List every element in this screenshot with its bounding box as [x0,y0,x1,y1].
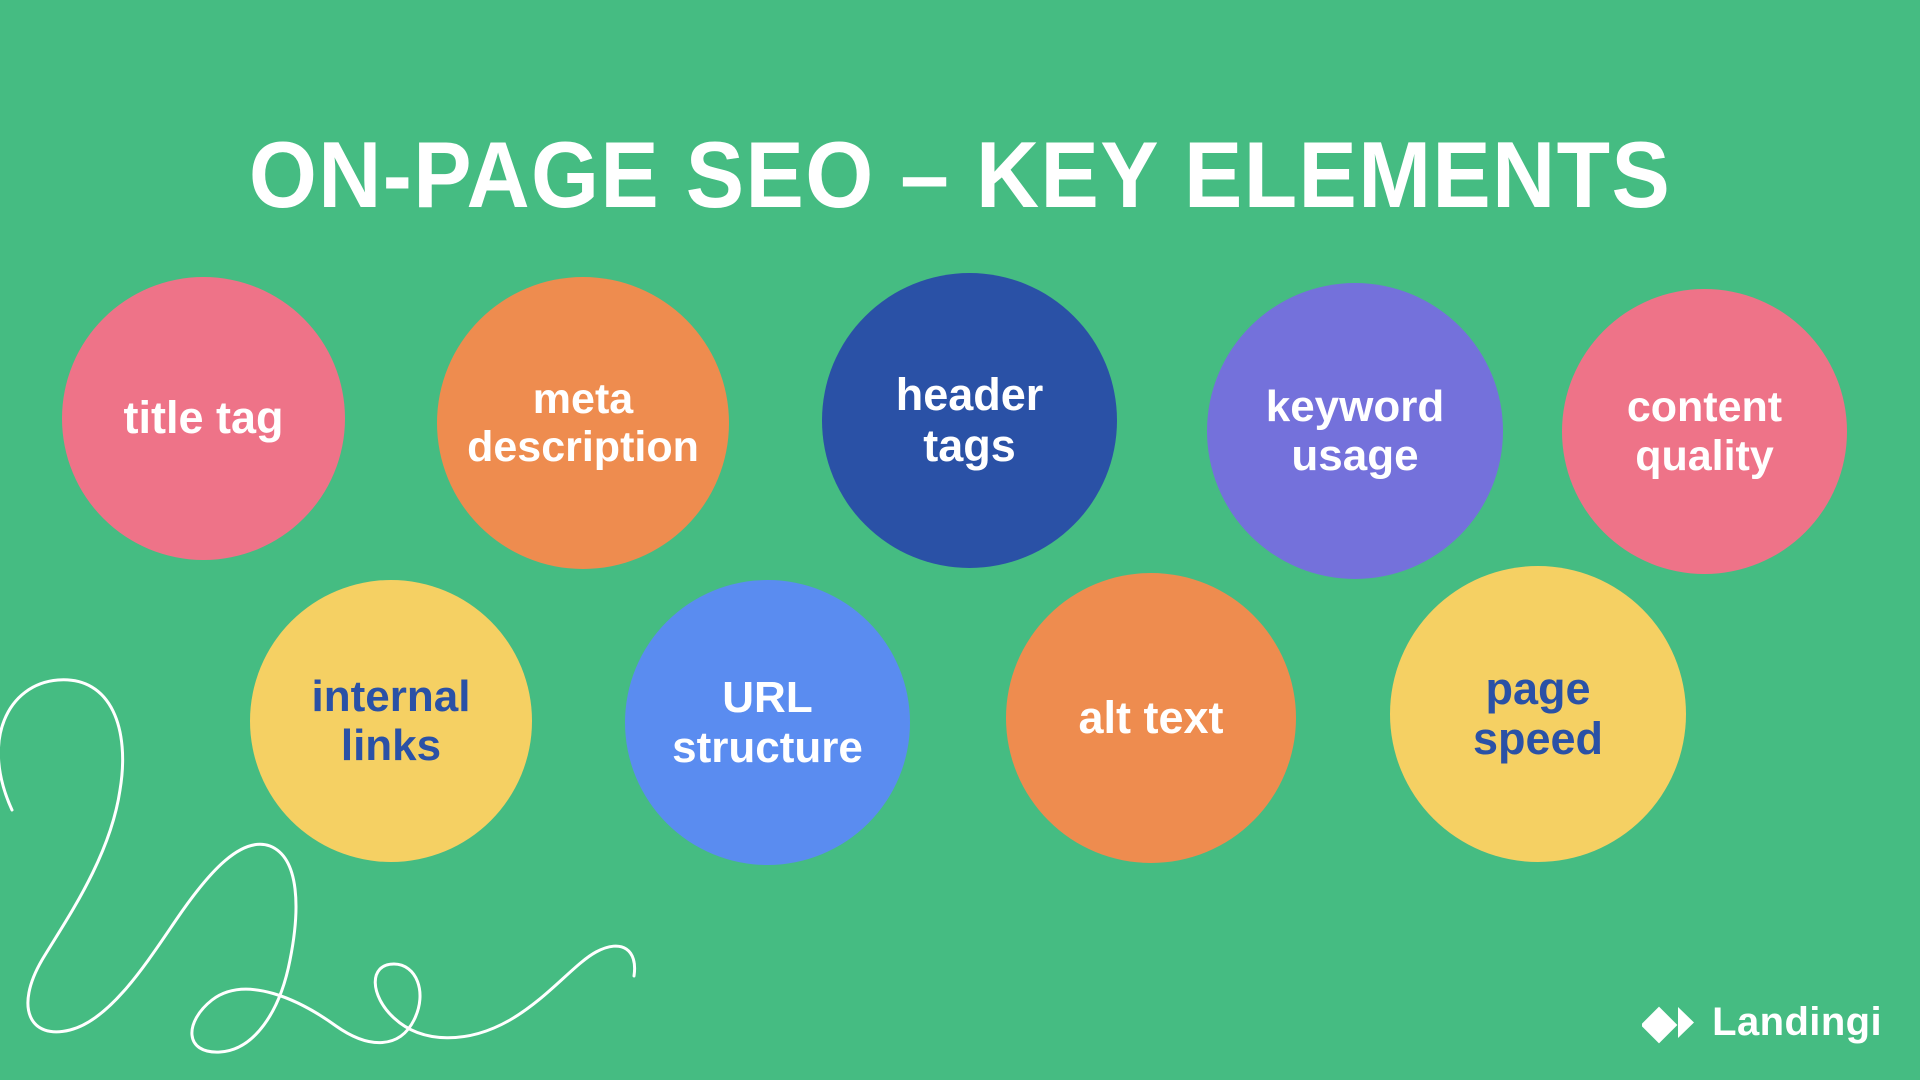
bubble-title-tag: title tag [62,277,345,560]
bubble-label: meta description [441,375,725,471]
bubble-content-quality: content quality [1562,289,1847,574]
brand-logo-text: Landingi [1712,1002,1882,1042]
bubble-url-structure: URL structure [625,580,910,865]
bubble-internal-links: internal links [250,580,532,862]
bubble-keyword-usage: keyword usage [1207,283,1503,579]
bubble-page-speed: page speed [1390,566,1686,862]
bubble-label: page speed [1394,664,1682,765]
bubble-label: content quality [1566,383,1843,479]
bubble-label: header tags [826,370,1113,471]
bubble-label: internal links [254,672,528,771]
bubble-label: alt text [1010,693,1292,743]
bubble-header-tags: header tags [822,273,1117,568]
bubble-label: URL structure [629,673,906,772]
page-title: ON-PAGE SEO – KEY ELEMENTS [67,126,1853,225]
bubble-meta-description: meta description [437,277,729,569]
bubble-label: keyword usage [1211,382,1499,481]
brand-logo: Landingi [1642,994,1882,1050]
landingi-diamond-icon [1642,994,1698,1050]
bubble-alt-text: alt text [1006,573,1296,863]
bubble-label: title tag [66,393,341,443]
infographic-canvas: ON-PAGE SEO – KEY ELEMENTS title tag met… [0,0,1920,1080]
